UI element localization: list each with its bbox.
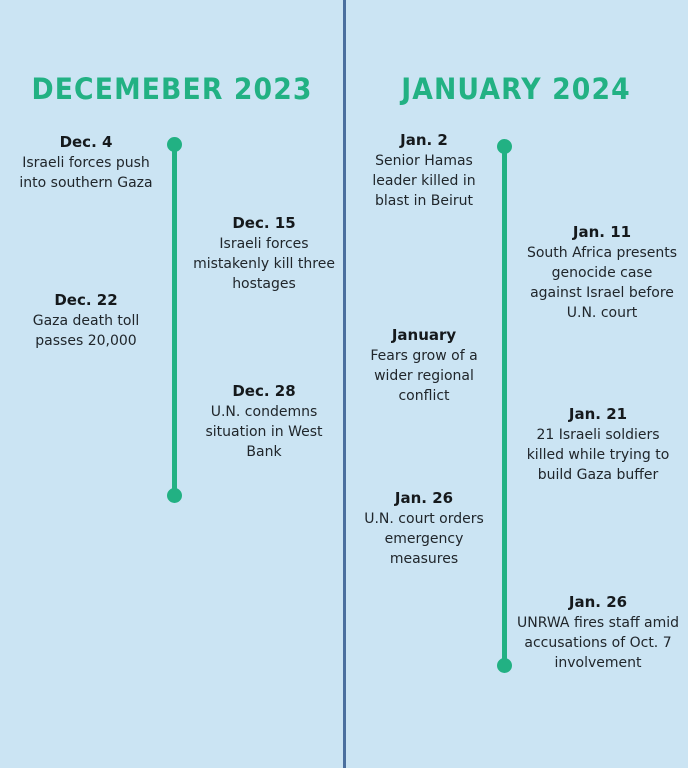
timeline-entry-dec-22: Dec. 22 Gaza death toll passes 20,000 (8, 290, 164, 352)
timeline-spine-december (172, 144, 177, 496)
entry-date: Dec. 28 (190, 381, 338, 402)
entry-date: Jan. 11 (524, 222, 680, 243)
timeline-entry-jan-21: Jan. 21 21 Israeli soldiers killed while… (516, 404, 680, 486)
entry-date: Jan. 21 (516, 404, 680, 425)
panel-december: DECEMEBER 2023 Dec. 4 Israeli forces pus… (0, 0, 344, 768)
timeline-end-dot-january (497, 658, 512, 673)
timeline-spine-january (502, 146, 507, 666)
timeline-start-dot-january (497, 139, 512, 154)
timeline-entry-jan-11: Jan. 11 South Africa presents genocide c… (524, 222, 680, 324)
entry-text: Israeli forces push into southern Gaza (8, 154, 164, 194)
entry-date: January (354, 325, 494, 346)
entry-text: U.N. condemns situation in West Bank (190, 403, 338, 463)
timeline-end-dot-december (167, 488, 182, 503)
entry-text: UNRWA fires staff amid accusations of Oc… (516, 614, 680, 674)
timeline-infographic: DECEMEBER 2023 Dec. 4 Israeli forces pus… (0, 0, 688, 768)
entry-text: Gaza death toll passes 20,000 (8, 312, 164, 352)
entry-text: 21 Israeli soldiers killed while trying … (516, 426, 680, 486)
entry-date: Dec. 22 (8, 290, 164, 311)
entry-text: U.N. court orders emergency measures (354, 510, 494, 570)
timeline-entry-dec-28: Dec. 28 U.N. condemns situation in West … (190, 381, 338, 463)
timeline-entry-jan-26-court: Jan. 26 U.N. court orders emergency meas… (354, 488, 494, 570)
entry-date: Jan. 26 (354, 488, 494, 509)
entry-text: Senior Hamas leader killed in blast in B… (354, 152, 494, 212)
panel-title-january: JANUARY 2024 (358, 72, 674, 106)
timeline-entry-jan-2: Jan. 2 Senior Hamas leader killed in bla… (354, 130, 494, 212)
entry-date: Jan. 26 (516, 592, 680, 613)
entry-date: Jan. 2 (354, 130, 494, 151)
entry-text: South Africa presents genocide case agai… (524, 244, 680, 324)
panel-divider (343, 0, 346, 768)
panel-title-december: DECEMEBER 2023 (14, 72, 330, 106)
timeline-entry-dec-4: Dec. 4 Israeli forces push into southern… (8, 132, 164, 194)
entry-date: Dec. 15 (190, 213, 338, 234)
timeline-entry-dec-15: Dec. 15 Israeli forces mistakenly kill t… (190, 213, 338, 295)
entry-text: Israeli forces mistakenly kill three hos… (190, 235, 338, 295)
timeline-entry-jan-26-unrwa: Jan. 26 UNRWA fires staff amid accusatio… (516, 592, 680, 674)
entry-date: Dec. 4 (8, 132, 164, 153)
timeline-start-dot-december (167, 137, 182, 152)
entry-text: Fears grow of a wider regional conflict (354, 347, 494, 407)
timeline-entry-january: January Fears grow of a wider regional c… (354, 325, 494, 407)
